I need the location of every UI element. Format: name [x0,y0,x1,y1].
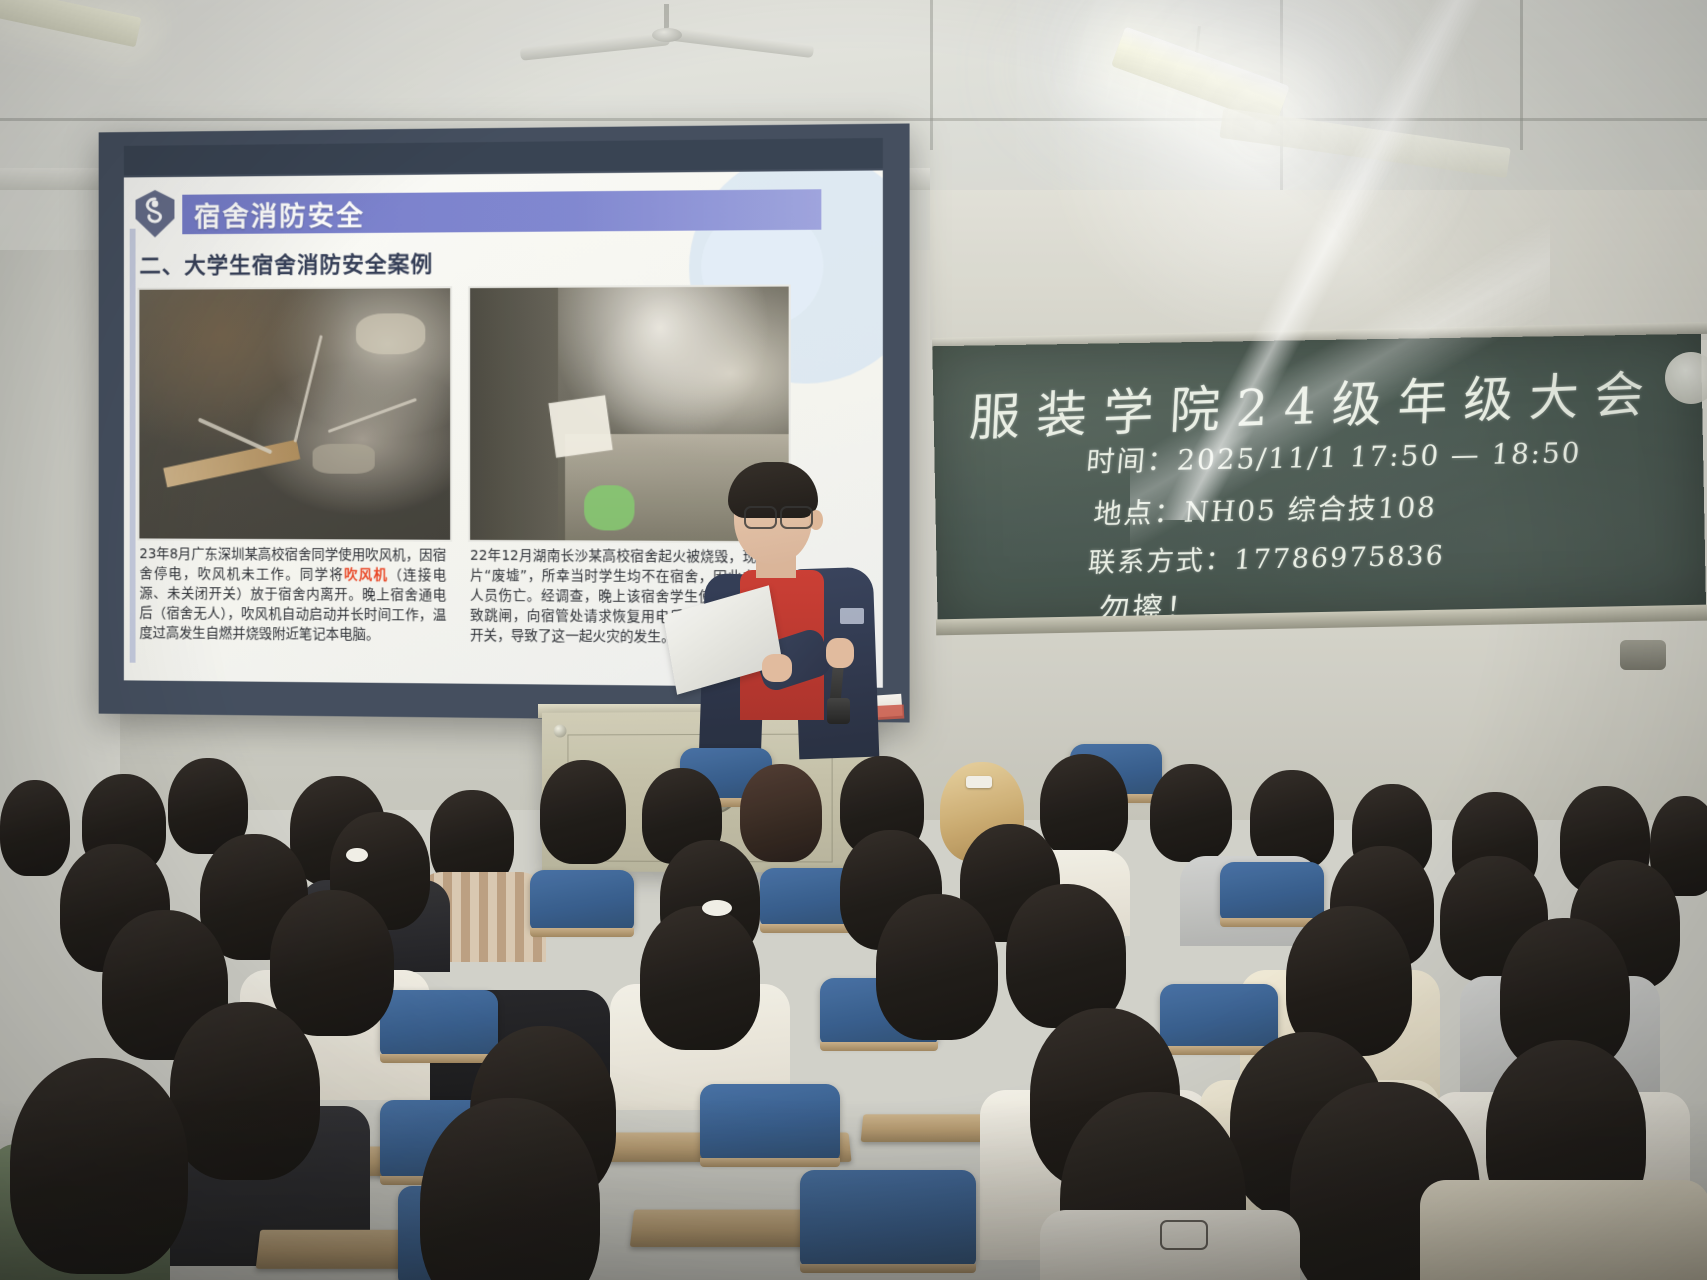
student-head [270,890,394,1036]
podium-knob[interactable] [554,725,567,738]
chair [1220,862,1324,920]
slide-subtitle: 二、大学生宿舍消防安全案例 [139,246,433,280]
chair [530,870,634,930]
student-head [0,780,70,876]
student-head [540,760,626,864]
student-head [170,1002,320,1180]
shield-emblem-icon [134,189,177,239]
slide-title-bar: 宿舍消防安全 [182,189,821,234]
hair-clip [346,848,368,862]
student-head [1006,884,1126,1028]
student-head [640,906,760,1050]
chair [1160,984,1278,1048]
blackboard: 服装学院24级年级大会 时间：2025/11/1 17:50 — 18:50 地… [932,334,1706,631]
hair-clip [966,776,992,788]
blackboard-line-contact: 联系方式：17786975836 [1087,533,1447,580]
presenter [700,458,900,758]
fire-damage-photo-left [137,286,452,542]
glasses-icon [744,506,777,529]
caption-highlight: 吹风机 [344,567,388,583]
student-head [1150,764,1232,862]
chair [380,990,498,1056]
glasses-icon [1160,1220,1208,1250]
chair [800,1170,976,1266]
case-caption-left: 23年8月广东深圳某高校宿舍同学使用吹风机，因宿舍停电，吹风机未工作。同学将吹风… [139,544,446,645]
glasses-icon [780,506,813,529]
student-head [876,894,998,1040]
student-head [740,764,822,862]
slide-title: 宿舍消防安全 [182,194,365,234]
lecture-hall-screenshot: 服装学院24级年级大会 时间：2025/11/1 17:50 — 18:50 地… [0,0,1707,1280]
student-head [10,1058,188,1274]
student-body [1420,1180,1707,1280]
jacket-badge [840,608,864,624]
student-head [1040,754,1128,858]
wall-above-blackboard [930,190,1707,340]
student-head [1250,770,1334,870]
chalk-tray-object [1620,640,1666,670]
blackboard-line-location: 地点：NH05 综合技108 [1092,486,1439,533]
hair-clip [702,900,732,916]
chair [700,1084,840,1160]
audience-seating [0,740,1707,1280]
